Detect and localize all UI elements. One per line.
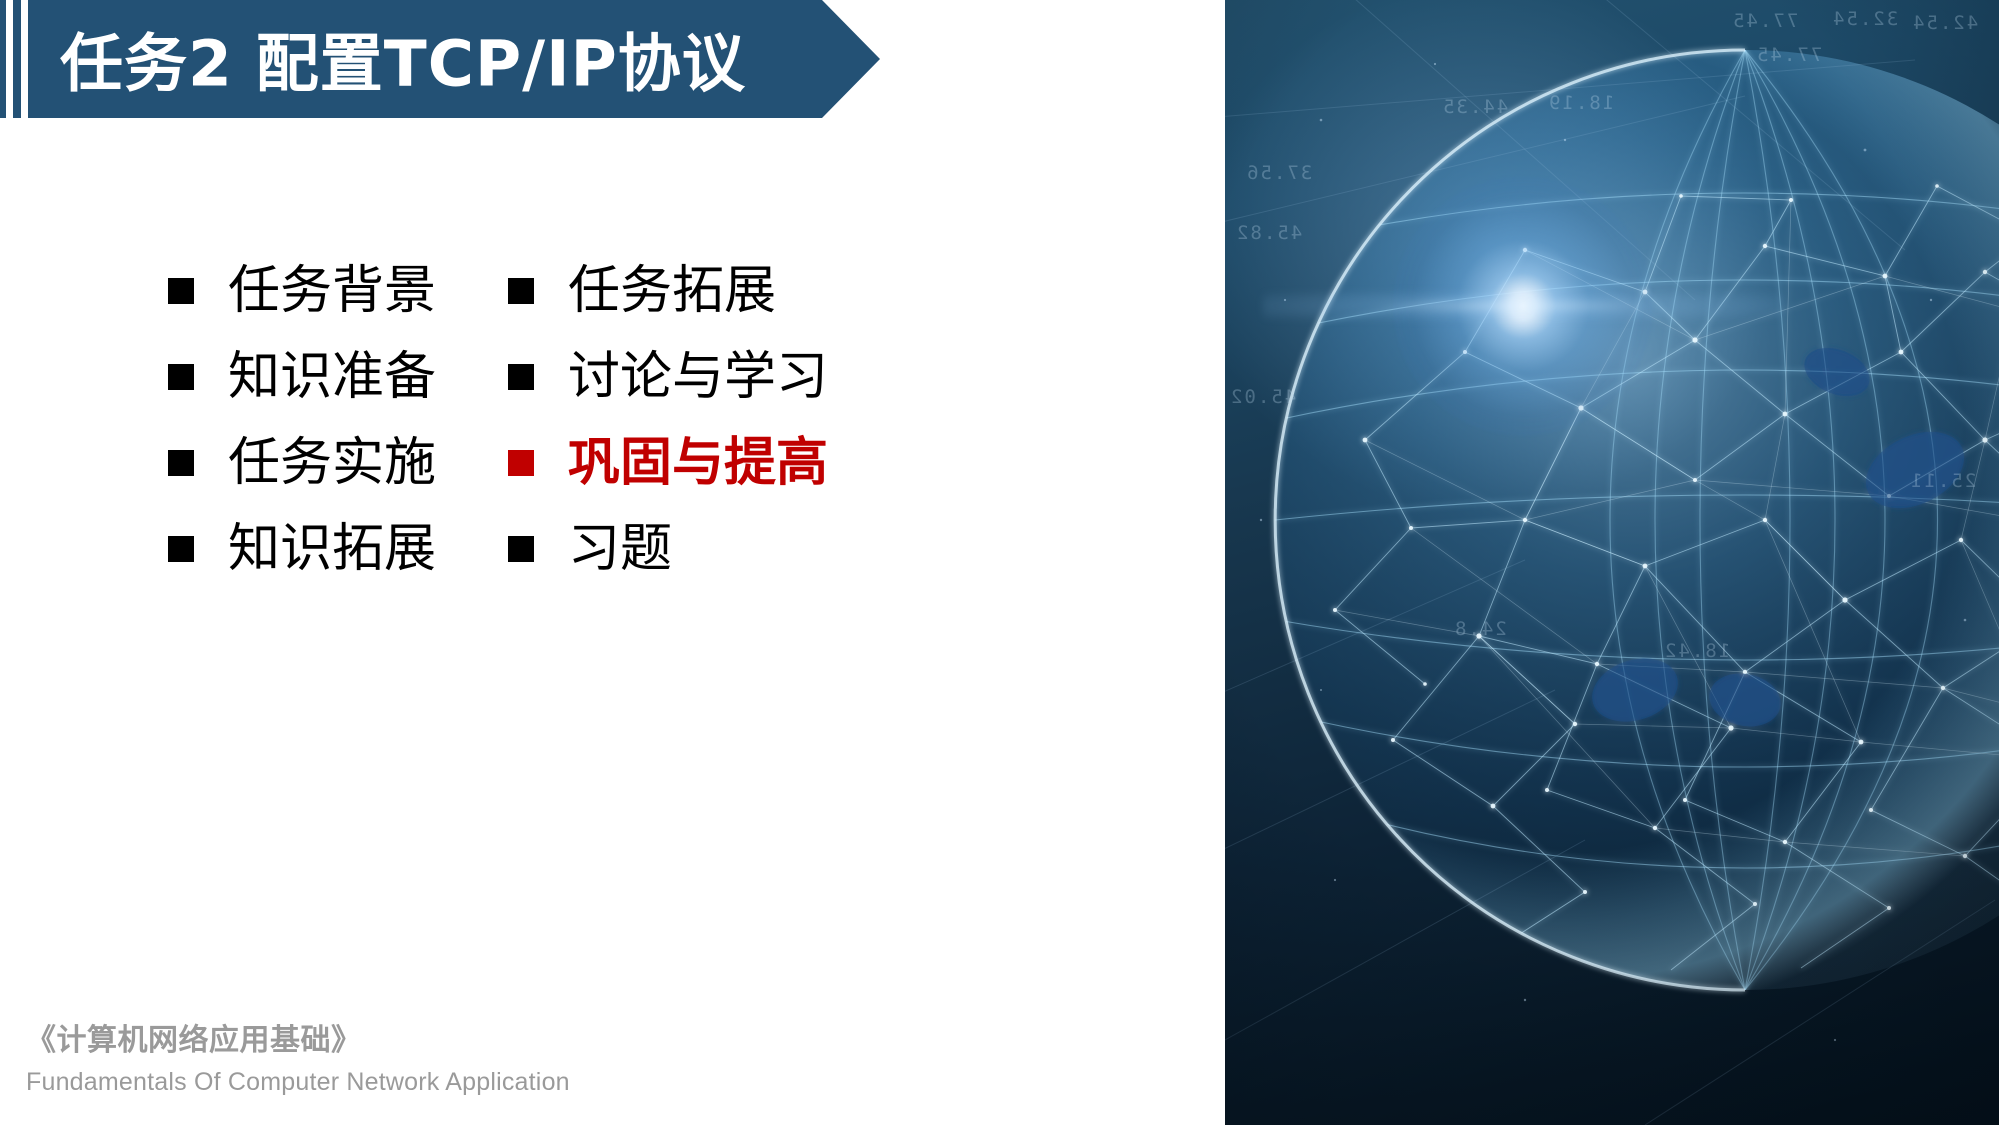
agenda-item-label: 任务拓展 [568, 265, 776, 317]
square-bullet-icon [508, 278, 534, 304]
square-bullet-icon [168, 450, 194, 476]
agenda-item-label: 习题 [568, 523, 672, 575]
agenda-item-label: 知识准备 [228, 351, 436, 403]
agenda-item-label: 任务实施 [228, 437, 436, 489]
agenda-item-task-extension[interactable]: 任务拓展 [508, 248, 848, 334]
title-banner: 任务2 配置TCP/IP协议 [0, 0, 880, 118]
network-globe-wireframe-icon [1225, 0, 1999, 1125]
agenda-item-task-background[interactable]: 任务背景 [168, 248, 508, 334]
agenda-item-label: 知识拓展 [228, 523, 436, 575]
square-bullet-icon [168, 536, 194, 562]
sun-flare-streak-icon [1263, 292, 1783, 320]
banner-accent-stripe-outer [0, 0, 6, 118]
agenda-row: 知识准备 讨论与学习 [168, 334, 888, 420]
square-bullet-icon [508, 536, 534, 562]
square-bullet-icon [168, 278, 194, 304]
banner-accent-stripe-inner [13, 0, 21, 118]
page-title: 任务2 配置TCP/IP协议 [60, 14, 746, 105]
agenda-row: 知识拓展 习题 [168, 506, 888, 592]
square-bullet-icon [508, 450, 534, 476]
agenda-item-label: 任务背景 [228, 265, 436, 317]
network-globe-image: 32.5477.4542.5477.4544.3518.1937.5645.82… [1225, 0, 1999, 1125]
agenda-row: 任务实施 巩固与提高 [168, 420, 888, 506]
footer: 《计算机网络应用基础》 Fundamentals Of Computer Net… [26, 1015, 726, 1097]
agenda-row: 任务背景 任务拓展 [168, 248, 888, 334]
footer-course-title-en: Fundamentals Of Computer Network Applica… [26, 1068, 726, 1097]
agenda-item-task-implementation[interactable]: 任务实施 [168, 420, 508, 506]
square-bullet-icon [508, 364, 534, 390]
agenda-item-consolidation-and-improvement[interactable]: 巩固与提高 [508, 420, 848, 506]
agenda-item-exercises[interactable]: 习题 [508, 506, 848, 592]
agenda-item-knowledge-preparation[interactable]: 知识准备 [168, 334, 508, 420]
agenda-item-label: 讨论与学习 [568, 351, 828, 403]
footer-course-title-cn: 《计算机网络应用基础》 [26, 1015, 726, 1059]
agenda-item-discussion-and-study[interactable]: 讨论与学习 [508, 334, 848, 420]
agenda-list: 任务背景 任务拓展 知识准备 讨论与学习 任务实施 巩固与提高 知识拓展 [168, 248, 888, 592]
square-bullet-icon [168, 364, 194, 390]
agenda-item-label-active: 巩固与提高 [568, 437, 828, 489]
agenda-item-knowledge-extension[interactable]: 知识拓展 [168, 506, 508, 592]
